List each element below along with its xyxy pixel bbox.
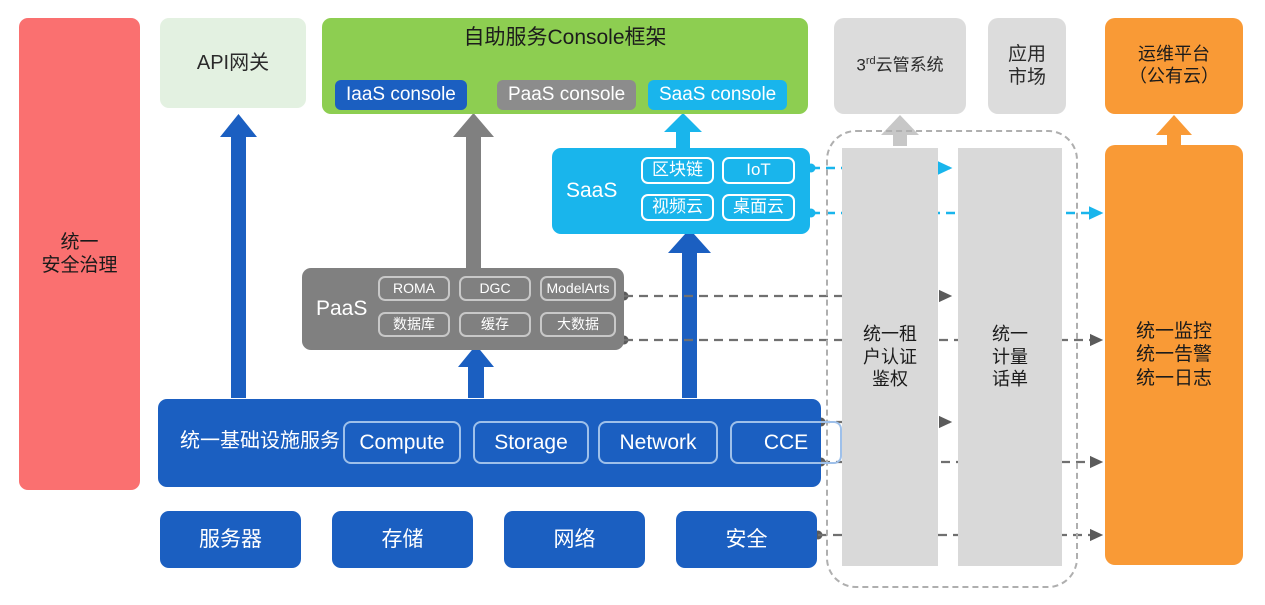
hardware-box-network[interactable]: 网络 [504, 511, 645, 568]
hardware-box-storage[interactable]: 存储 [332, 511, 473, 568]
app-market-box[interactable]: 应用 市场 [988, 18, 1066, 114]
ops-platform-panel[interactable]: 统一监控 统一告警 统一日志 [1105, 145, 1243, 565]
third-cloud-label: 3rd云管系统 [856, 55, 943, 76]
console-framework-title: 自助服务Console框架 [322, 25, 808, 51]
saas-service-iot[interactable]: IoT [722, 157, 795, 184]
paas-service-modelarts[interactable]: ModelArts [540, 276, 616, 301]
paas-service-cache[interactable]: 缓存 [459, 312, 531, 337]
shared-service-metering[interactable]: 统一 计量 话单 [958, 148, 1062, 566]
saas-service-video-cloud[interactable]: 视频云 [641, 194, 714, 221]
arrow-iaas-to-api-gateway [220, 114, 257, 398]
paas-service-dgc[interactable]: DGC [459, 276, 531, 301]
iaas-layer-label: 统一基础设施服务 [180, 429, 340, 453]
hardware-box-security[interactable]: 安全 [676, 511, 817, 568]
arrow-iaas-to-saas [668, 229, 711, 398]
iaas-layer-panel[interactable]: 统一基础设施服务 Compute Storage Network CCE [158, 399, 821, 487]
saas-service-desktop-cloud[interactable]: 桌面云 [722, 194, 795, 221]
arrow-saas-to-console [664, 113, 702, 148]
iaas-service-storage[interactable]: Storage [473, 421, 589, 464]
saas-service-blockchain[interactable]: 区块链 [641, 157, 714, 184]
security-governance-panel[interactable]: 统一 安全治理 [19, 18, 140, 490]
third-party-cloud-mgmt-box[interactable]: 3rd云管系统 [834, 18, 966, 114]
paas-console-chip[interactable]: PaaS console [497, 80, 636, 110]
iaas-console-chip[interactable]: IaaS console [335, 80, 467, 110]
paas-service-database[interactable]: 数据库 [378, 312, 450, 337]
third-cloud-superscript: rd [866, 55, 876, 67]
arrow-iaas-to-paas [458, 345, 494, 398]
paas-service-bigdata[interactable]: 大数据 [540, 312, 616, 337]
shared-service-auth[interactable]: 统一租 户认证 鉴权 [842, 148, 938, 566]
arrow-paas-to-console [453, 113, 494, 268]
paas-layer-panel[interactable]: PaaS ROMA DGC ModelArts 数据库 缓存 大数据 [302, 268, 624, 350]
hardware-box-server[interactable]: 服务器 [160, 511, 301, 568]
paas-layer-label: PaaS [316, 296, 367, 322]
iaas-service-network[interactable]: Network [598, 421, 718, 464]
saas-layer-panel[interactable]: SaaS 区块链 IoT 视频云 桌面云 [552, 148, 810, 234]
arrow-to-ops-platform [1156, 115, 1192, 146]
ops-platform-header-box[interactable]: 运维平台 （公有云） [1105, 18, 1243, 114]
saas-layer-label: SaaS [566, 178, 617, 204]
saas-console-chip[interactable]: SaaS console [648, 80, 787, 110]
iaas-service-compute[interactable]: Compute [343, 421, 461, 464]
iaas-service-cce[interactable]: CCE [730, 421, 842, 464]
architecture-diagram: 统一租 户认证 鉴权 统一 计量 话单 统一 安全治理 API网关 自助服务Co… [0, 0, 1265, 605]
paas-service-roma[interactable]: ROMA [378, 276, 450, 301]
api-gateway-box[interactable]: API网关 [160, 18, 306, 108]
console-framework-panel[interactable]: 自助服务Console框架 IaaS console PaaS console … [322, 18, 808, 114]
